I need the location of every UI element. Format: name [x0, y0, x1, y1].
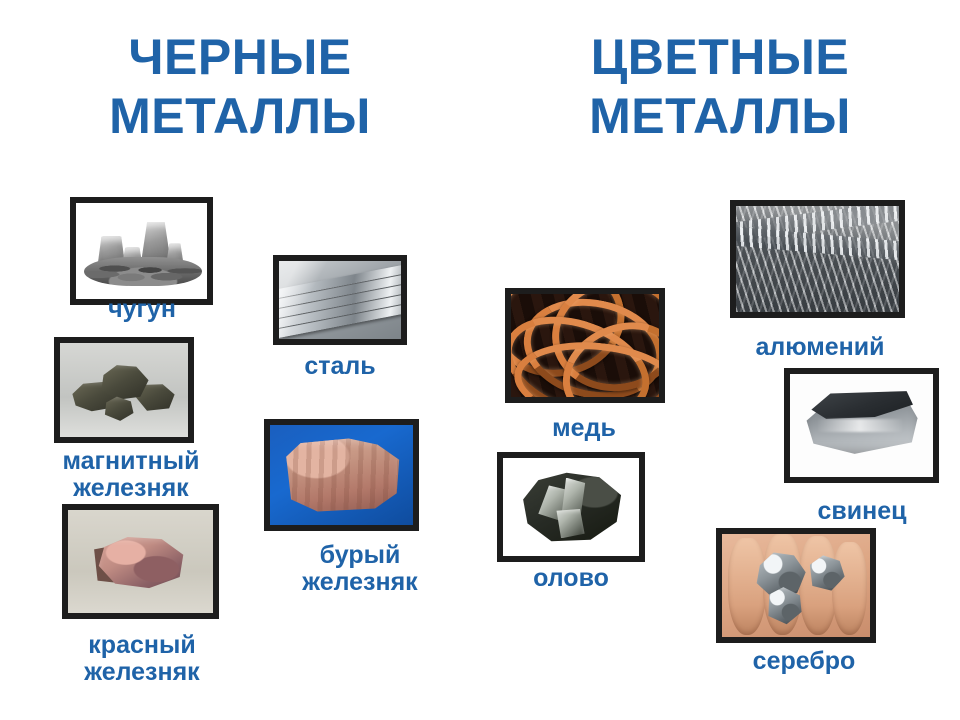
card-lead[interactable]	[784, 368, 939, 483]
card-label-aluminium: алюмений	[670, 334, 960, 361]
photo-silver	[722, 534, 870, 637]
column-heading-ferrous: ЧЕРНЫЕ МЕТАЛЛЫ	[20, 28, 460, 146]
photo-frame	[730, 200, 905, 318]
photo-frame	[70, 197, 213, 305]
card-label-hematite: красный железняк	[0, 632, 292, 685]
photo-steel	[279, 261, 401, 339]
photo-frame	[497, 452, 645, 562]
card-magnetite[interactable]	[54, 337, 194, 443]
metals-poster: ЧЕРНЫЕ МЕТАЛЛЫ ЦВЕТНЫЕ МЕТАЛЛЫ чугун маг…	[0, 0, 960, 720]
card-label-magnetite: магнитный железняк	[0, 448, 281, 501]
photo-frame	[273, 255, 407, 345]
photo-copper	[511, 294, 659, 397]
card-label-lead: свинец	[712, 498, 960, 525]
photo-tin	[503, 458, 639, 556]
photo-hematite	[68, 510, 213, 613]
card-tin[interactable]	[497, 452, 645, 562]
card-pigiron[interactable]	[70, 197, 213, 305]
photo-frame	[505, 288, 665, 403]
card-limonite[interactable]	[264, 419, 419, 531]
photo-limonite	[270, 425, 413, 525]
card-label-silver: серебро	[654, 648, 954, 675]
photo-frame	[54, 337, 194, 443]
photo-lead	[790, 374, 933, 477]
card-label-steel: сталь	[190, 353, 490, 380]
photo-aluminium	[736, 206, 899, 312]
photo-pigiron	[76, 203, 207, 299]
photo-frame	[716, 528, 876, 643]
card-hematite[interactable]	[62, 504, 219, 619]
card-label-pigiron: чугун	[0, 296, 292, 323]
photo-frame	[264, 419, 419, 531]
card-label-copper: медь	[434, 415, 734, 442]
column-heading-nonferrous: ЦВЕТНЫЕ МЕТАЛЛЫ	[500, 28, 940, 146]
card-aluminium[interactable]	[730, 200, 905, 318]
photo-frame	[62, 504, 219, 619]
card-steel[interactable]	[273, 255, 407, 345]
photo-magnetite	[60, 343, 188, 437]
photo-frame	[784, 368, 939, 483]
card-silver[interactable]	[716, 528, 876, 643]
card-copper[interactable]	[505, 288, 665, 403]
card-label-tin: олово	[421, 565, 721, 592]
